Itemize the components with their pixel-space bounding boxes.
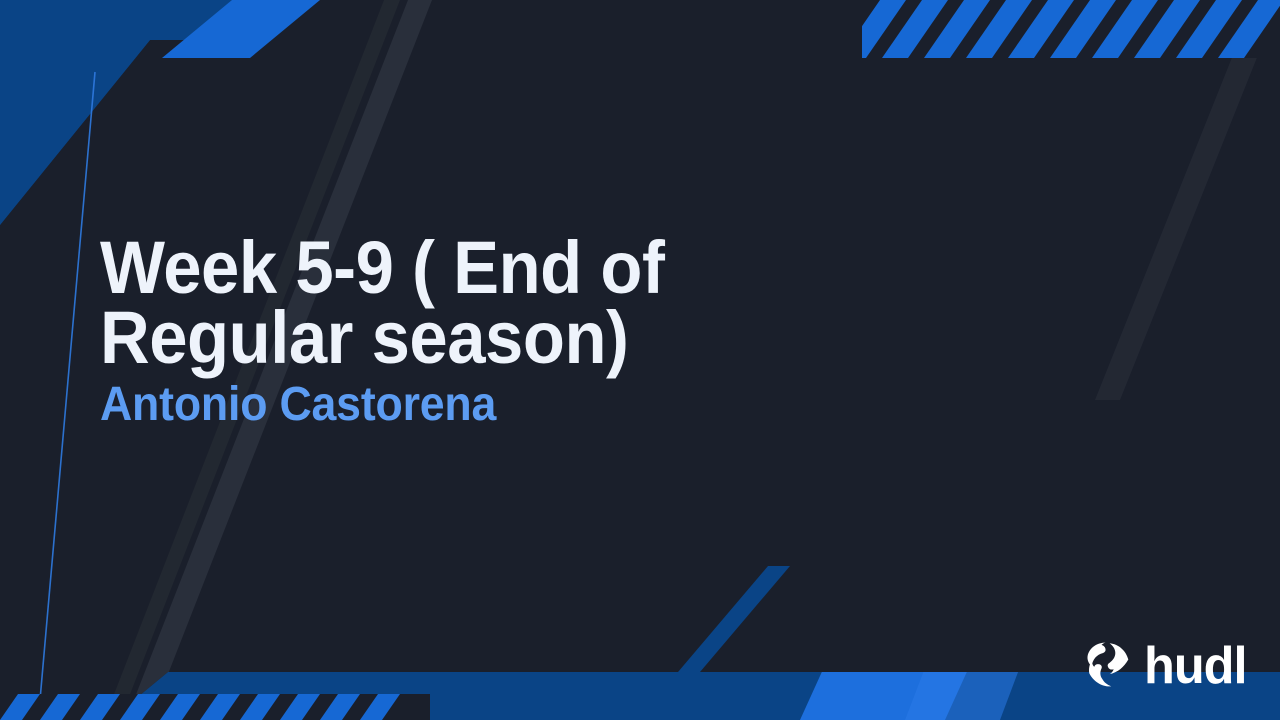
slide-title-line-1: Week 5-9 ( End of bbox=[100, 233, 770, 303]
slide-title-line-2: Regular season) bbox=[100, 303, 770, 373]
hudl-logo: hudl bbox=[1082, 640, 1250, 692]
slide-subtitle-author: Antonio Castorena bbox=[100, 380, 770, 430]
hudl-wordmark: hudl bbox=[1144, 640, 1247, 692]
hatch-top-right bbox=[840, 0, 1280, 58]
hudl-swirl-icon bbox=[1082, 640, 1134, 692]
title-card-slide: Week 5-9 ( End of Regular season) Antoni… bbox=[0, 0, 1280, 720]
hatch-bottom-left bbox=[0, 694, 430, 720]
slide-title-block: Week 5-9 ( End of Regular season) Antoni… bbox=[100, 233, 820, 430]
